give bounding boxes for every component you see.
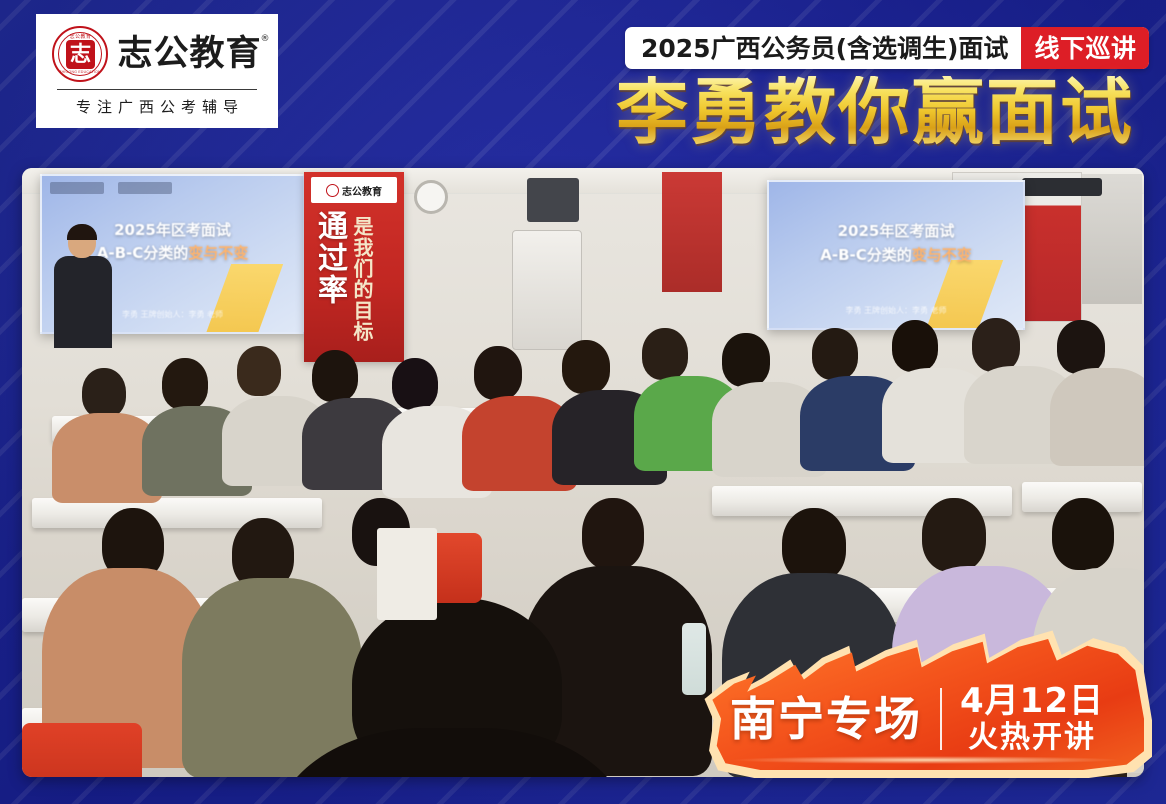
audience-head — [922, 498, 986, 572]
event-date: 4月12日 — [960, 684, 1104, 720]
red-chair — [22, 723, 142, 777]
header-badge: 2025广西公务员(含选调生)面试 线下巡讲 — [625, 27, 1149, 69]
brand-wordmark: 志公教育 ® — [117, 37, 261, 72]
brand-seal-icon: 志公教育 志 ZHIGONG EDUCATION — [52, 26, 108, 82]
brand-logo-card: 志公教育 志 ZHIGONG EDUCATION 志公教育 ® 专注广西公考辅导 — [36, 14, 278, 128]
seal-center: 志 — [66, 40, 95, 69]
logo-divider — [57, 89, 257, 90]
flame-divider — [940, 688, 942, 750]
brand-tagline: 专注广西公考辅导 — [70, 96, 244, 117]
audience-head — [642, 328, 688, 380]
audience-head — [782, 508, 846, 582]
audience-head — [812, 328, 858, 380]
header-badge-tag: 线下巡讲 — [1021, 27, 1149, 69]
audience-head — [562, 340, 610, 394]
audience-head — [972, 318, 1020, 372]
audience-head — [237, 346, 281, 396]
main-headline: 李勇教你赢面试 — [616, 76, 1144, 148]
audience-head — [474, 346, 522, 400]
audience-head — [162, 358, 208, 410]
promotional-poster: 志公教育 志 ZHIGONG EDUCATION 志公教育 ® 专注广西公考辅导… — [0, 0, 1166, 804]
paper-bag — [377, 528, 437, 620]
event-city: 南宁专场 — [730, 696, 922, 742]
audience-head — [892, 320, 938, 372]
brand-logo-row: 志公教育 志 ZHIGONG EDUCATION 志公教育 ® — [46, 26, 268, 87]
footer-flame-banner: 南宁专场 4月12日 火热开讲 — [700, 626, 1152, 778]
seal-character: 志 — [70, 44, 91, 65]
audience-head — [392, 358, 438, 410]
audience-head — [582, 498, 644, 570]
brand-wordmark-text: 志公教育 — [117, 34, 261, 74]
audience-head — [1052, 498, 1114, 570]
audience-shoulders — [1050, 368, 1144, 466]
registered-mark-icon: ® — [261, 35, 271, 44]
audience-head — [722, 333, 770, 387]
audience-head — [312, 350, 358, 402]
event-slogan: 火热开讲 — [968, 722, 1096, 754]
audience-head — [82, 368, 126, 418]
header-badge-title: 2025广西公务员(含选调生)面试 — [625, 27, 1021, 69]
audience-head — [1057, 320, 1105, 374]
flame-banner-content: 南宁专场 4月12日 火热开讲 — [730, 678, 1130, 760]
seal-bottom-text: ZHIGONG EDUCATION — [56, 71, 105, 75]
event-date-block: 4月12日 火热开讲 — [960, 684, 1104, 753]
